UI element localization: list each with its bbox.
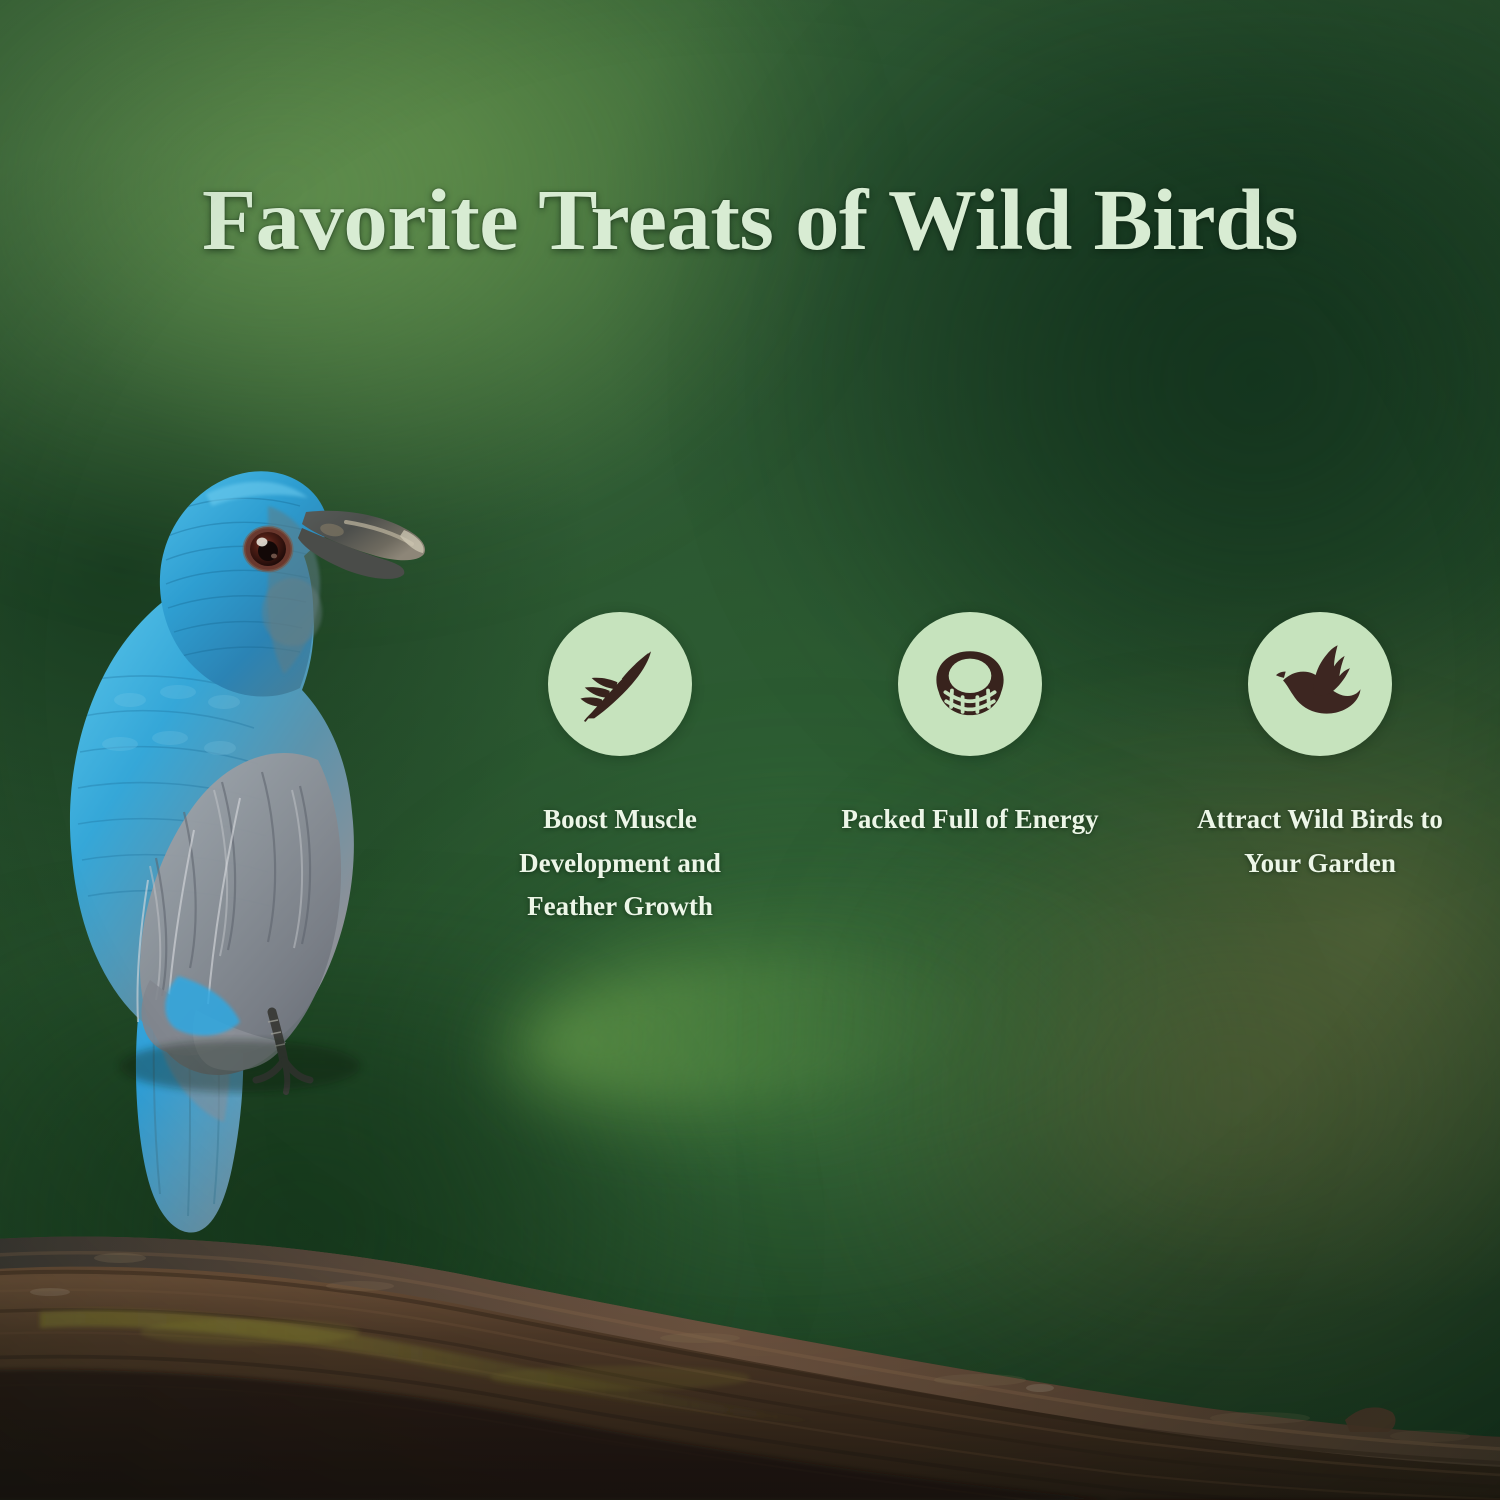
feature-caption: Boost Muscle Development and Feather Gro…	[475, 798, 765, 929]
background-bokeh-highlight	[0, 0, 840, 570]
poster-title-container: Favorite Treats of Wild Birds	[0, 176, 1500, 263]
suet-feeder-icon	[929, 643, 1011, 725]
feature-item-muscle-development: Boost Muscle Development and Feather Gro…	[470, 612, 770, 929]
feature-icon-badge	[548, 612, 692, 756]
feature-icon-badge	[1248, 612, 1392, 756]
feature-caption: Attract Wild Birds to Your Garden	[1175, 798, 1465, 885]
flying-bird-icon	[1276, 640, 1364, 728]
marketing-poster: Favorite Treats of Wild Birds	[0, 0, 1500, 1500]
feature-item-attract-birds: Attract Wild Birds to Your Garden	[1170, 612, 1470, 885]
feature-benefits-row: Boost Muscle Development and Feather Gro…	[470, 612, 1470, 929]
feature-icon-badge	[898, 612, 1042, 756]
page-title: Favorite Treats of Wild Birds	[40, 176, 1460, 263]
feature-caption: Packed Full of Energy	[841, 798, 1098, 842]
feather-icon	[577, 641, 663, 727]
feature-item-energy: Packed Full of Energy	[820, 612, 1120, 842]
